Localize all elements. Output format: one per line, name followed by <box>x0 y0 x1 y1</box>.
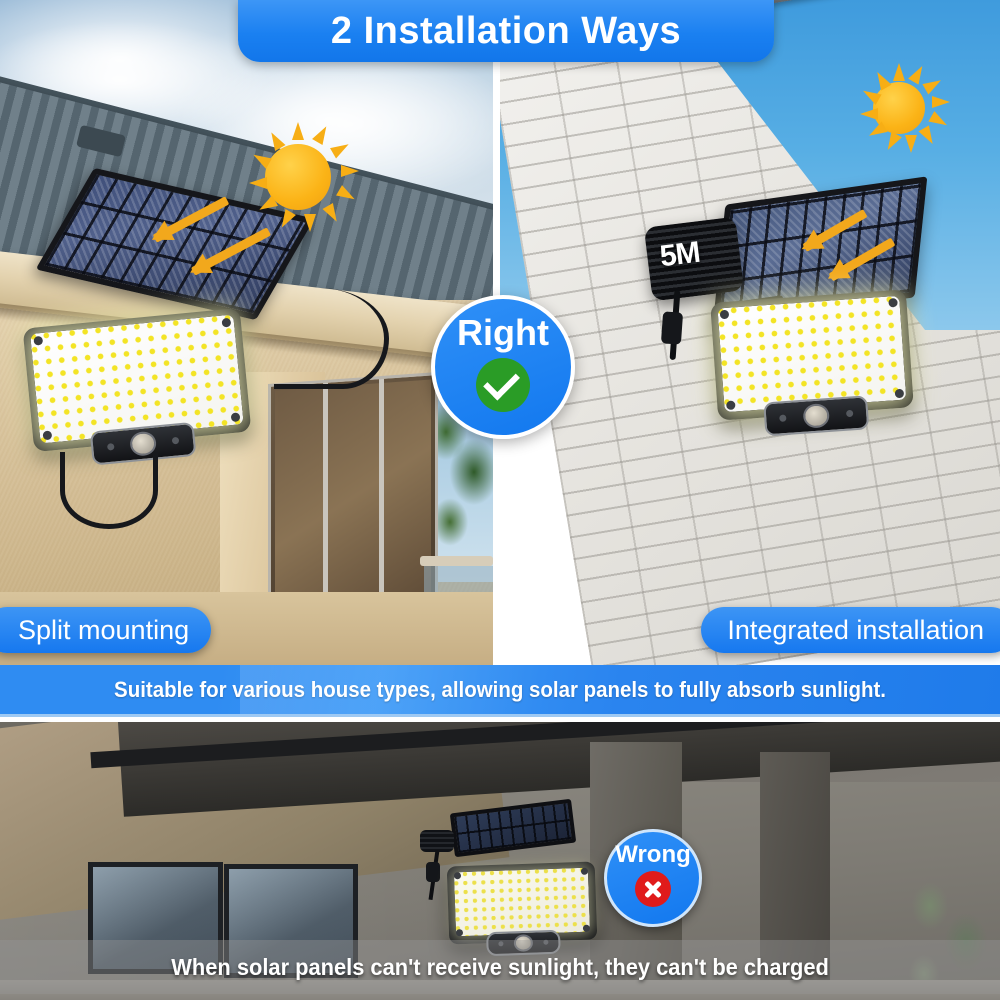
led-panel-face <box>30 314 244 443</box>
title-banner: 2 Installation Ways <box>238 0 774 62</box>
led-panel-face <box>718 296 907 412</box>
status-badge-right: Right <box>431 295 575 439</box>
led-panel-face <box>454 868 590 937</box>
door-mullion <box>323 383 328 617</box>
caption-band-bottom: When solar panels can't receive sunlight… <box>0 940 1000 994</box>
door-mullion <box>379 379 384 613</box>
cable-length-label: 5M <box>658 236 702 275</box>
label-split-mounting: Split mounting <box>0 607 211 653</box>
sliding-glass-door <box>268 372 438 624</box>
door-glass <box>275 380 431 617</box>
caption-middle-text: Suitable for various house types, allowi… <box>114 677 886 703</box>
led-power-cable <box>60 452 158 529</box>
cable-connector <box>661 311 683 344</box>
infographic-page: Split mounting <box>0 0 1000 1000</box>
badge-label: Right <box>457 315 549 351</box>
sun-icon <box>854 63 944 153</box>
label-text: Integrated installation <box>727 615 984 646</box>
cable-connector <box>426 862 440 882</box>
top-panels-row: Split mounting <box>0 0 1000 714</box>
check-circle-icon <box>476 358 530 412</box>
status-badge-wrong: Wrong <box>604 829 702 927</box>
balcony-rail <box>420 556 493 566</box>
cable-coil <box>420 830 454 852</box>
caption-bottom-text: When solar panels can't receive sunlight… <box>171 954 829 981</box>
pir-lens <box>802 403 830 429</box>
panel-split-mounting: Split mounting <box>0 0 493 665</box>
sun-icon <box>243 122 353 232</box>
badge-label: Wrong <box>615 843 691 867</box>
led-flood-light-right <box>710 289 914 420</box>
label-integrated-installation: Integrated installation <box>701 607 1000 653</box>
check-mark <box>483 364 520 401</box>
label-text: Split mounting <box>18 615 189 646</box>
caption-band-middle: Suitable for various house types, allowi… <box>0 665 1000 714</box>
led-flood-light-left <box>23 308 252 452</box>
x-circle-icon <box>635 871 671 907</box>
led-flood-light-bottom <box>447 861 598 944</box>
page-title: 2 Installation Ways <box>331 10 681 53</box>
pir-motion-sensor <box>763 395 869 436</box>
